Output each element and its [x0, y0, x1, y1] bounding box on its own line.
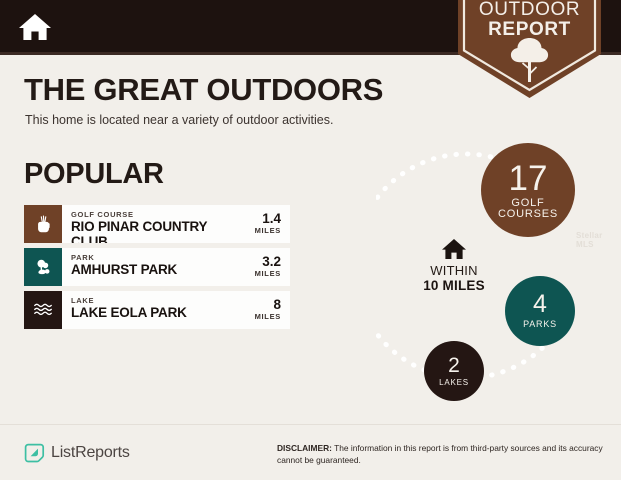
- list-item-name: RIO PINAR COUNTRY CLUB: [71, 219, 219, 243]
- list-item[interactable]: PARK AMHURST PARK 3.2 MILES: [24, 248, 290, 286]
- stat-circle-lakes: 2 LAKES: [424, 341, 484, 401]
- within-line-2: 10 MILES: [406, 278, 502, 293]
- list-item-name: AMHURST PARK: [71, 262, 219, 277]
- distance-value: 3.2: [223, 255, 281, 269]
- outdoor-report-badge: OUTDOOR REPORT: [458, 0, 601, 104]
- distance-value: 8: [223, 298, 281, 312]
- stat-label-line-1: PARKS: [523, 319, 557, 330]
- footer-divider: [0, 424, 621, 425]
- page-subtitle: This home is located near a variety of o…: [25, 113, 333, 127]
- list-item-text: LAKE LAKE EOLA PARK: [62, 291, 223, 329]
- list-item[interactable]: GOLF COURSE RIO PINAR COUNTRY CLUB 1.4 M…: [24, 205, 290, 243]
- list-item-text: PARK AMHURST PARK: [62, 248, 223, 286]
- stat-label-line-1: GOLF: [511, 198, 544, 209]
- stat-label-line-2: COURSES: [498, 209, 558, 220]
- list-item-distance: 8 MILES: [223, 291, 290, 329]
- distance-unit: MILES: [223, 312, 281, 322]
- list-item-category: PARK: [71, 253, 219, 262]
- stat-value: 2: [448, 355, 460, 376]
- listreports-mark-icon: [24, 442, 45, 463]
- stat-label-line-1: LAKES: [439, 377, 469, 388]
- listreports-wordmark: ListReports: [51, 444, 130, 462]
- popular-heading: POPULAR: [24, 158, 164, 191]
- golf-bag-icon: [24, 205, 62, 243]
- home-icon: [441, 238, 467, 260]
- distance-value: 1.4: [223, 212, 281, 226]
- stat-value: 17: [509, 161, 548, 196]
- disclaimer-label: DISCLAIMER:: [277, 443, 332, 453]
- list-item-distance: 1.4 MILES: [223, 205, 290, 243]
- disclaimer: DISCLAIMER: The information in this repo…: [277, 443, 605, 466]
- home-icon: [18, 12, 52, 42]
- stat-circle-parks: 4 PARKS: [505, 276, 575, 346]
- mls-watermark: Stellar MLS: [576, 231, 621, 249]
- page-title: THE GREAT OUTDOORS: [24, 72, 383, 108]
- outdoor-report-infographic: OUTDOOR REPORT THE GREAT OUTDOORS This h…: [0, 0, 621, 480]
- stat-value: 4: [533, 292, 547, 317]
- list-item-distance: 3.2 MILES: [223, 248, 290, 286]
- list-item[interactable]: LAKE LAKE EOLA PARK 8 MILES: [24, 291, 290, 329]
- waves-icon: [24, 291, 62, 329]
- list-item-category: GOLF COURSE: [71, 210, 219, 219]
- trees-icon: [24, 248, 62, 286]
- list-item-name: LAKE EOLA PARK: [71, 305, 219, 320]
- list-item-category: LAKE: [71, 296, 219, 305]
- stat-circle-golf-courses: 17 GOLF COURSES: [481, 143, 575, 237]
- within-radius-callout: WITHIN 10 MILES: [406, 238, 502, 293]
- distance-unit: MILES: [223, 226, 281, 236]
- within-line-1: WITHIN: [406, 263, 502, 278]
- listreports-logo[interactable]: ListReports: [24, 442, 130, 463]
- distance-unit: MILES: [223, 269, 281, 279]
- list-item-text: GOLF COURSE RIO PINAR COUNTRY CLUB: [62, 205, 223, 243]
- popular-list: GOLF COURSE RIO PINAR COUNTRY CLUB 1.4 M…: [24, 205, 290, 334]
